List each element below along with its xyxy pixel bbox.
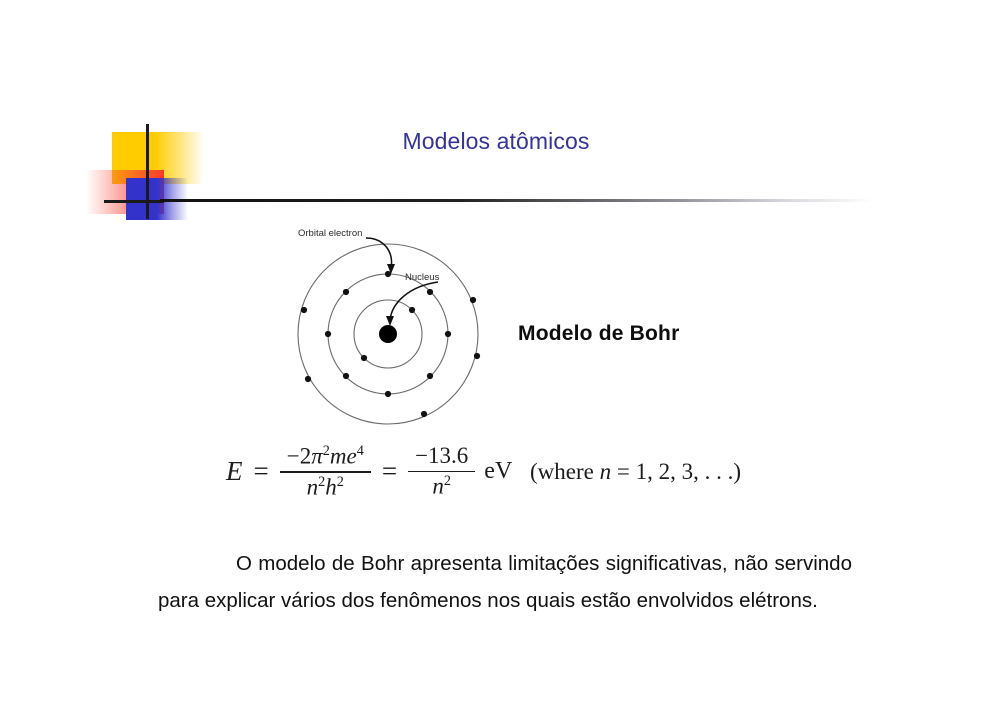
electron-dot [361,355,367,361]
formula-den1-h-exponent: 2 [337,474,344,490]
nucleus-arrowhead [386,316,394,326]
electron-dot [385,391,391,397]
formula-fraction-2: −13.6 n2 [408,444,475,499]
formula-num1-pi: π [311,444,323,469]
model-name-caption: Modelo de Bohr [518,322,679,346]
electron-dot [470,297,476,303]
formula-denominator-1: n2h2 [300,473,351,500]
formula-note-suffix: = 1, 2, 3, . . .) [611,459,741,484]
formula-num1-prefix: −2 [287,444,311,469]
formula-equals-1: = [254,456,269,487]
formula-unit: eV [484,458,512,485]
formula-numerator-1: −2π2me4 [280,444,371,471]
decoration-horizontal-rule-short [104,200,164,203]
formula-den1-h: h [325,474,337,499]
formula-lhs: E [226,456,243,487]
body-paragraph: O modelo de Bohr apresenta limitações si… [158,545,852,619]
formula-num1-me: me [330,444,357,469]
electron-dot [343,289,349,295]
bohr-energy-formula: E = −2π2me4 n2h2 = −13.6 n2 eV [226,444,512,500]
nucleus-label: Nucleus [405,272,439,283]
electron-dot [409,307,415,313]
bohr-atom-diagram: Orbital electron Nucleus [288,224,498,434]
formula-condition-note: (where n = 1, 2, 3, . . .) [530,459,741,485]
formula-den2-n: n [432,474,444,499]
orbital-electron-label: Orbital electron [298,228,362,239]
nucleus-dot [379,325,397,343]
slide-title: Modelos atômicos [0,128,992,155]
formula-numerator-2: −13.6 [408,444,475,470]
orbital-electron-arrow [366,238,392,268]
formula-note-prefix: (where [530,459,600,484]
electron-dot [343,373,349,379]
formula-num1-e-exponent: 4 [357,443,364,459]
electron-dot [445,331,451,337]
decoration-red-square [86,170,164,214]
electron-dot [305,376,311,382]
slide-decoration [0,0,992,240]
formula-equals-2: = [382,456,397,487]
formula-num1-pi-exponent: 2 [323,443,330,459]
formula-denominator-2: n2 [425,472,458,499]
electron-dot [421,411,427,417]
decoration-horizontal-rule-long [160,199,872,202]
electron-dot [474,353,480,359]
formula-den1-n: n [307,474,319,499]
electron-dot [325,331,331,337]
electron-dot [427,373,433,379]
electron-dot [427,289,433,295]
formula-den2-n-exponent: 2 [444,473,451,489]
formula-fraction-1: −2π2me4 n2h2 [280,444,371,500]
decoration-blue-square [126,178,188,220]
formula-note-variable: n [600,459,612,484]
electron-dot [301,307,307,313]
